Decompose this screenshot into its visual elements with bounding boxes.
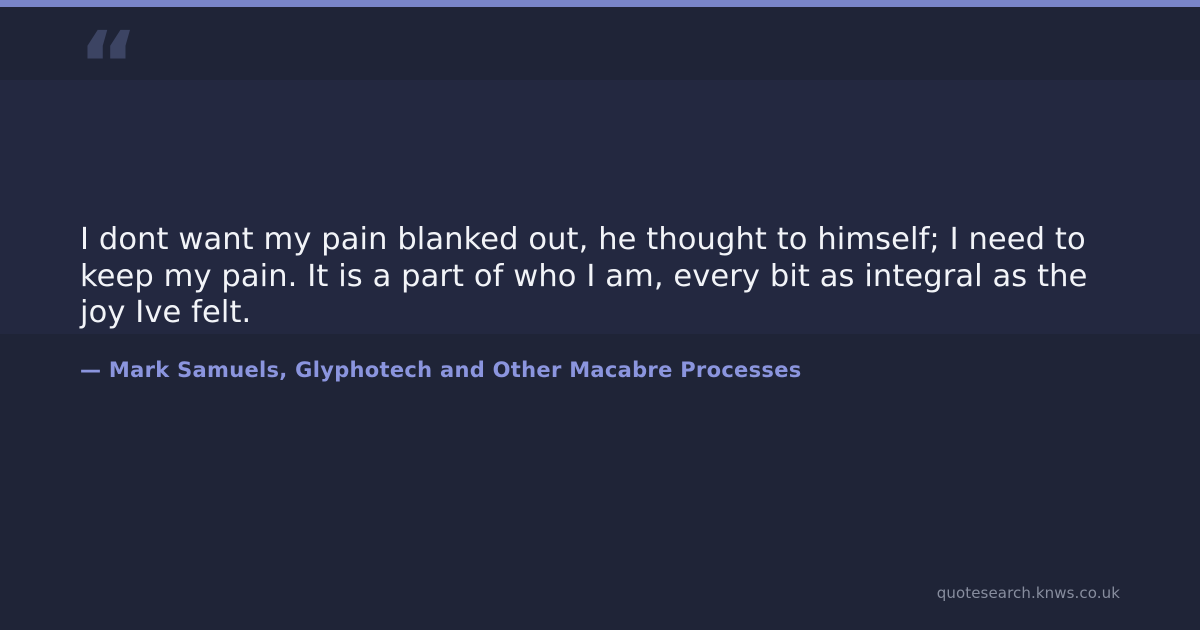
quote-text: I dont want my pain blanked out, he thou… [80,222,1125,332]
quote-card: “ I dont want my pain blanked out, he th… [0,0,1200,630]
top-accent-bar [0,0,1200,7]
quote-content: I dont want my pain blanked out, he thou… [80,222,1125,383]
quotation-mark-icon: “ [78,20,136,112]
source-website-url: quotesearch.knws.co.uk [937,584,1120,602]
quote-attribution: — Mark Samuels, Glyphotech and Other Mac… [80,332,1125,383]
